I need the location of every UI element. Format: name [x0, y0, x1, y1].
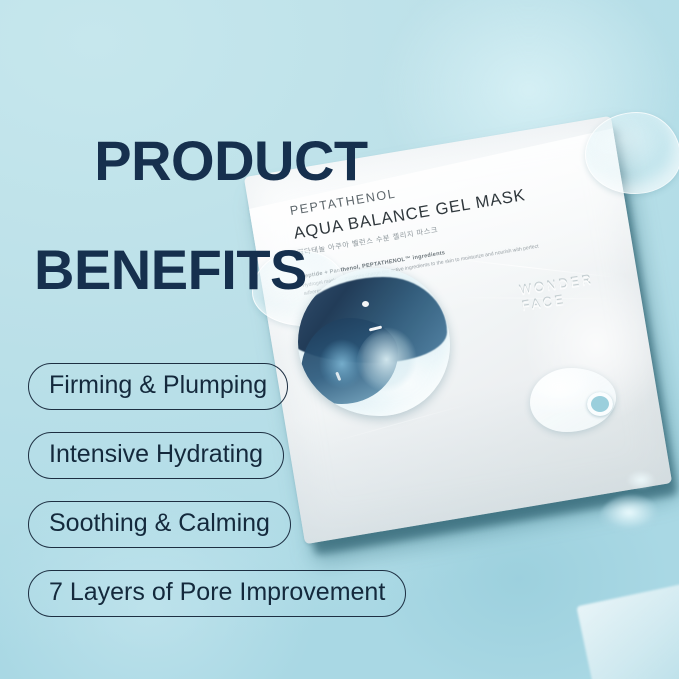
product-benefits-graphic: PEPTATHENOL AQUA BALANCE GEL MASK 펩타테놀 아…: [0, 0, 679, 679]
page-title: PRODUCT BENEFITS: [34, 80, 368, 406]
benefit-pill-soothing-calming: Soothing & Calming: [28, 501, 291, 548]
page-title-line-1: PRODUCT: [94, 129, 367, 192]
benefit-pill-intensive-hydrating: Intensive Hydrating: [28, 432, 284, 479]
benefit-pill-firming-plumping: Firming & Plumping: [28, 363, 288, 410]
page-title-line-2: BENEFITS: [34, 243, 368, 297]
benefits-list: Firming & Plumping Intensive Hydrating S…: [28, 363, 406, 617]
benefit-pill-pore-improvement: 7 Layers of Pore Improvement: [28, 570, 406, 617]
